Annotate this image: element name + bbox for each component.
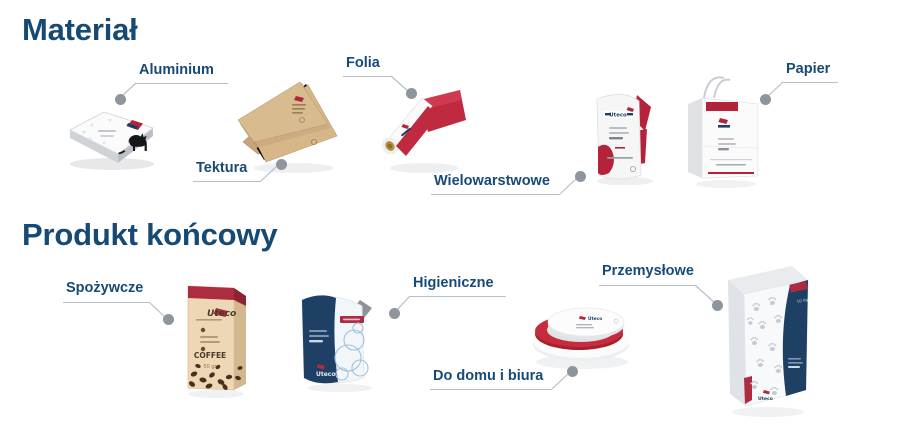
callout-dot-tektura[interactable] (276, 159, 287, 170)
callout-rule-spozywcze (63, 302, 149, 303)
callout-dot-przemyslowe[interactable] (712, 300, 723, 311)
callout-dot-wielowarstwowe[interactable] (575, 171, 586, 182)
callout-dot-aluminium[interactable] (115, 94, 126, 105)
callout-dot-folia[interactable] (406, 88, 417, 99)
callout-label-przemyslowe: Przemysłowe (602, 264, 694, 280)
product-multilayer-stand-pouch: Uteco (585, 85, 665, 185)
callout-label-spozywcze: Spożywcze (66, 281, 143, 297)
callout-label-papier: Papier (786, 62, 830, 78)
svg-text:Uteco: Uteco (588, 316, 602, 322)
svg-text:Uteco: Uteco (207, 309, 236, 319)
callout-label-higieniczne: Higieniczne (413, 276, 494, 292)
svg-text:COFFEE: COFFEE (194, 351, 226, 360)
svg-text:Uteco: Uteco (316, 371, 336, 378)
callout-rule-aluminium (136, 83, 228, 84)
product-red-film-roll (376, 84, 476, 174)
callout-label-wielowarstwowe: Wielowarstwowe (434, 174, 550, 190)
callout-rule-tektura (193, 181, 261, 182)
callout-label-folia: Folia (346, 56, 380, 72)
callout-rule-wielowarstwowe (431, 194, 560, 195)
callout-rule-folia (343, 76, 391, 77)
callout-dot-papier[interactable] (760, 94, 771, 105)
callout-rule-przemyslowe (599, 285, 695, 286)
callout-dot-do-domu-i-biura[interactable] (567, 366, 578, 377)
callout-dot-spozywcze[interactable] (163, 314, 174, 325)
svg-text:Uteco: Uteco (758, 396, 773, 402)
infographic-canvas: Materiał (0, 0, 900, 428)
product-kraft-paper-sheets (236, 82, 351, 174)
callout-rule-higieniczne (410, 296, 506, 297)
product-paper-shopping-bag (680, 68, 770, 188)
callout-label-aluminium: Aluminium (139, 63, 214, 79)
section-heading-material: Materiał (22, 12, 138, 48)
product-coffee-side-gusset-bag: Uteco COFFEE 50 gr (176, 278, 256, 398)
callout-rule-papier (783, 82, 838, 83)
product-industrial-pet-food-bag: 10 kg (716, 258, 816, 418)
section-heading-produkt-koncowy: Produkt końcowy (22, 217, 277, 253)
product-home-office-lid-stack: Uteco (524, 300, 639, 370)
callout-rule-do-domu-i-biura (430, 389, 552, 390)
callout-label-do-domu-i-biura: Do domu i biura (433, 369, 543, 385)
svg-text:50 gr: 50 gr (203, 364, 217, 370)
product-aluminium-cat-food-tray (58, 92, 163, 172)
callout-label-tektura: Tektura (196, 161, 247, 177)
product-hygiene-spouted-pouch: Uteco (292, 288, 388, 392)
callout-dot-higieniczne[interactable] (389, 308, 400, 319)
svg-text:Uteco: Uteco (609, 113, 627, 119)
